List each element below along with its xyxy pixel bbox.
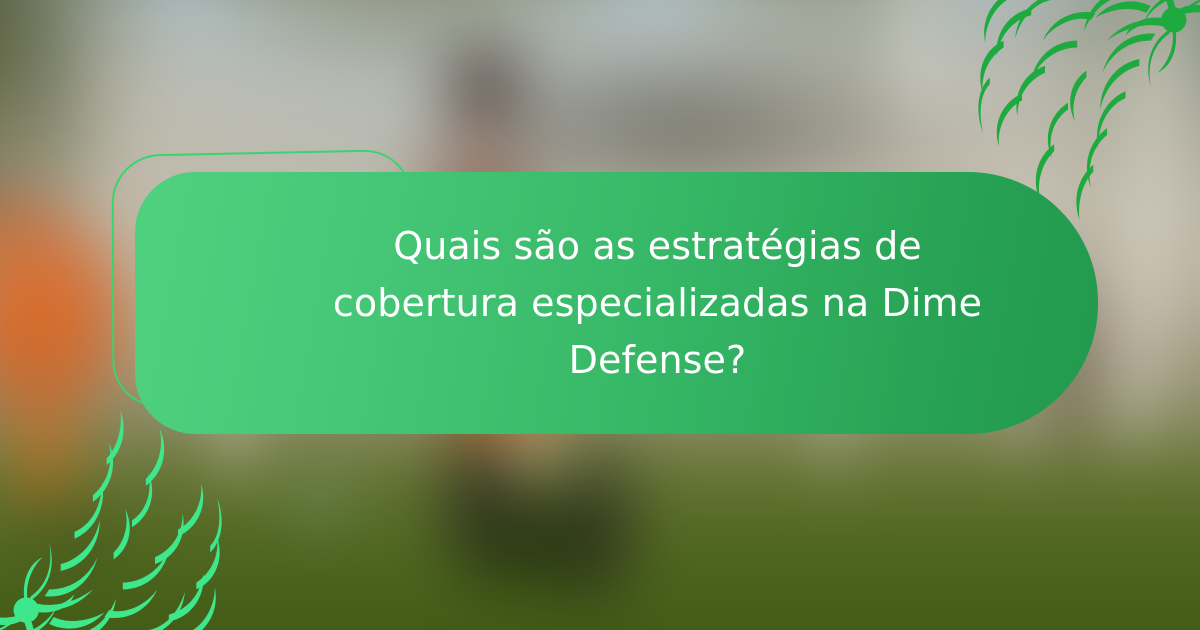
soccer-ball [281,464,358,541]
player-ground-shadow [446,486,633,607]
social-card-canvas: Quais são as estratégias de cobertura es… [0,0,1200,630]
question-text: Quais são as estratégias de cobertura es… [308,218,1008,389]
question-card: Quais são as estratégias de cobertura es… [135,172,1098,434]
